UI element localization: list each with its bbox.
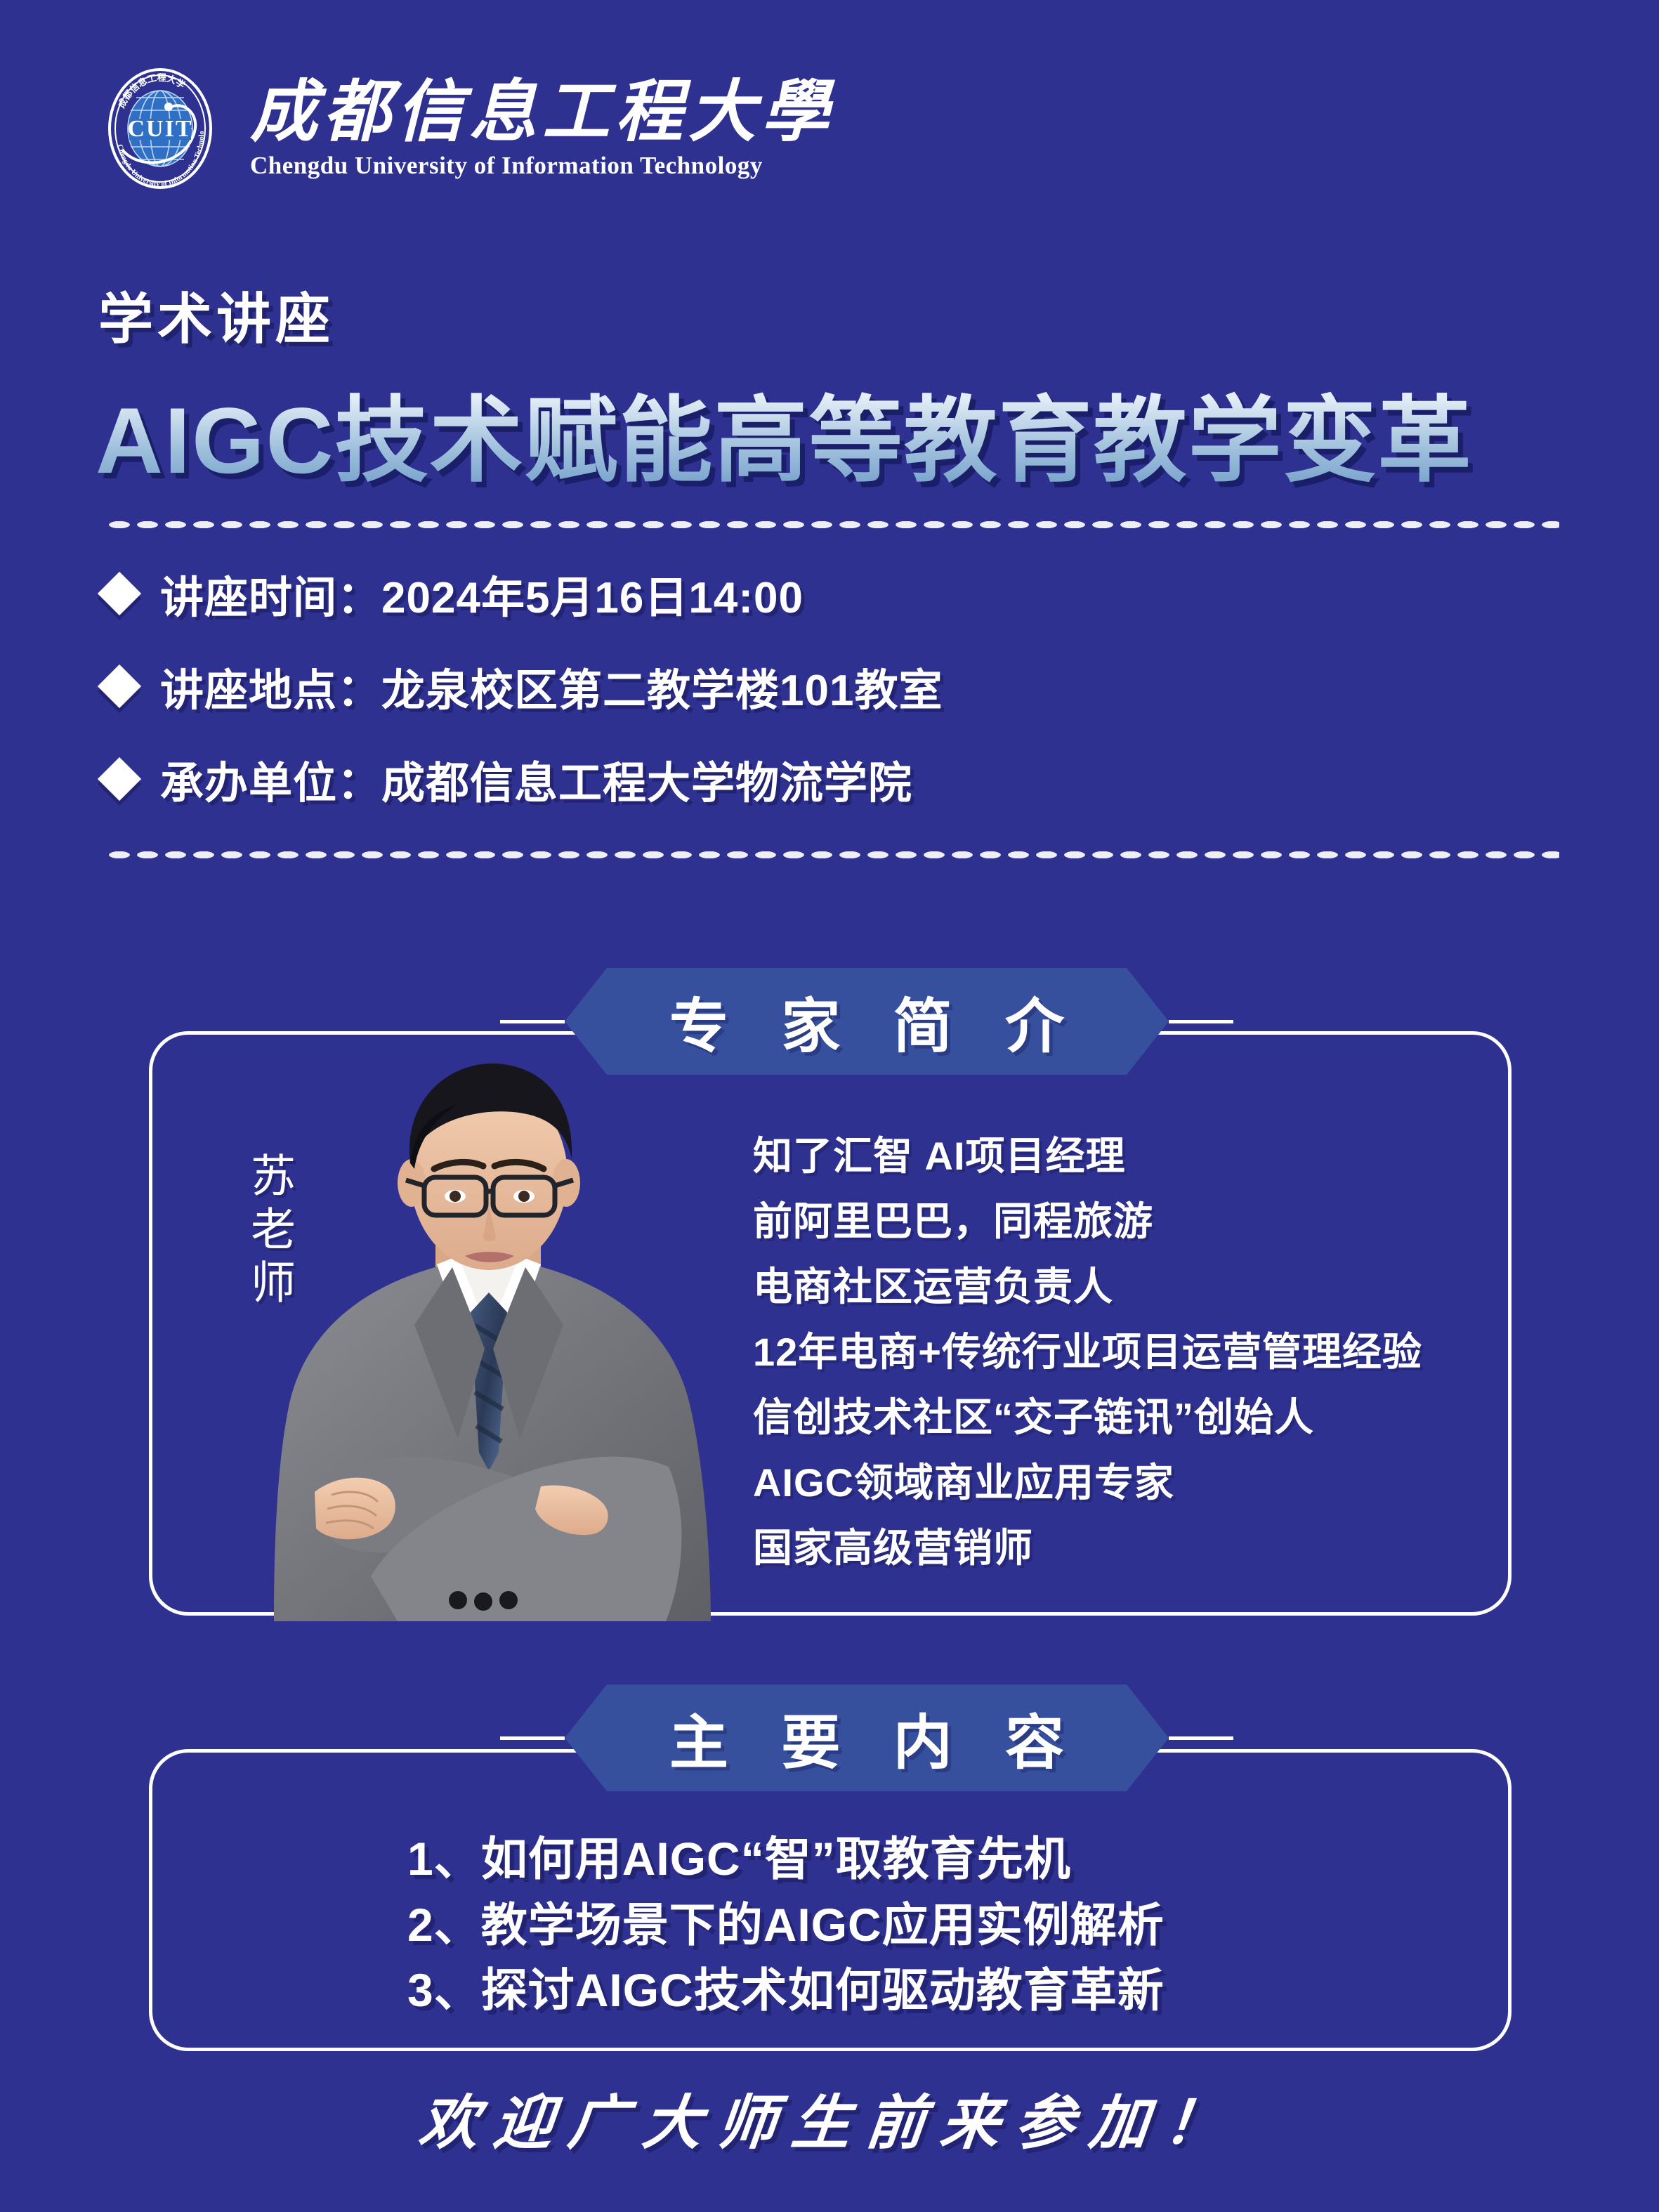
- info-value-time: 2024年5月16日14:00: [381, 562, 804, 625]
- event-info-list: 讲座时间： 2024年5月16日14:00 讲座地点： 龙泉校区第二教学楼101…: [104, 562, 1509, 840]
- banner-line-left: [500, 1736, 565, 1740]
- kicker-label: 学术讲座: [98, 275, 334, 354]
- bio-line: 信创技术社区“交子链讯”创始人: [753, 1385, 1469, 1451]
- diamond-bullet-icon: [98, 757, 141, 801]
- topic-line: 3、探讨AIGC技术如何驱动教育革新: [407, 1958, 1391, 2024]
- brand-header: CUIT 成都信息工程大学 Chengdu University of Info…: [98, 67, 834, 190]
- content-banner-shape: 主 要 内 容: [565, 1684, 1169, 1791]
- bio-line: 前阿里巴巴，同程旅游: [753, 1189, 1469, 1255]
- info-row-time: 讲座时间： 2024年5月16日14:00: [104, 562, 1509, 625]
- info-row-venue: 讲座地点： 龙泉校区第二教学楼101教室: [104, 655, 1509, 718]
- speaker-name: 苏老师: [247, 1152, 292, 1312]
- info-label-time: 讲座时间：: [160, 562, 381, 625]
- cuit-globe-logo-icon: CUIT 成都信息工程大学 Chengdu University of Info…: [98, 67, 222, 190]
- expert-bio-list: 知了汇智 AI项目经理 前阿里巴巴，同程旅游 电商社区运营负责人 12年电商+传…: [753, 1124, 1469, 1581]
- brand-name-cn: 成都信息工程大學: [250, 77, 834, 148]
- brand-name-en: Chengdu University of Information Techno…: [250, 152, 834, 180]
- expert-banner: 专 家 简 介: [500, 968, 1233, 1075]
- topic-line: 1、如何用AIGC“智”取教育先机: [407, 1826, 1391, 1892]
- speaker-portrait-icon: [247, 1045, 739, 1621]
- poster-root: CUIT 成都信息工程大学 Chengdu University of Info…: [0, 0, 1659, 2212]
- info-value-organizer: 成都信息工程大学物流学院: [381, 747, 912, 811]
- bio-line: 知了汇智 AI项目经理: [753, 1124, 1469, 1189]
- bio-line: 国家高级营销师: [753, 1516, 1469, 1581]
- diamond-bullet-icon: [98, 665, 141, 708]
- banner-line-right: [1169, 1736, 1233, 1740]
- info-value-venue: 龙泉校区第二教学楼101教室: [381, 655, 943, 718]
- divider-dotted-bottom: [105, 850, 1559, 860]
- content-topic-list: 1、如何用AIGC“智”取教育先机 2、教学场景下的AIGC应用实例解析 3、探…: [407, 1826, 1391, 2024]
- info-label-venue: 讲座地点：: [160, 655, 381, 718]
- svg-text:CUIT: CUIT: [127, 116, 192, 142]
- bio-line: 电商社区运营负责人: [753, 1255, 1469, 1320]
- topic-line: 2、教学场景下的AIGC应用实例解析: [407, 1892, 1391, 1958]
- content-banner-label: 主 要 内 容: [651, 1696, 1082, 1781]
- footer-invitation: 欢迎广大师生前来参加！: [0, 2076, 1659, 2161]
- bio-line: AIGC领域商业应用专家: [753, 1451, 1469, 1516]
- banner-line-left: [500, 1020, 565, 1023]
- info-label-organizer: 承办单位：: [160, 747, 381, 811]
- divider-dotted-top: [105, 520, 1559, 530]
- expert-banner-shape: 专 家 简 介: [565, 968, 1169, 1075]
- brand-wordmark: 成都信息工程大學 Chengdu University of Informati…: [250, 77, 834, 181]
- bio-line: 12年电商+传统行业项目运营管理经验: [753, 1320, 1469, 1385]
- content-banner: 主 要 内 容: [500, 1684, 1233, 1791]
- diamond-bullet-icon: [98, 572, 141, 615]
- expert-banner-label: 专 家 简 介: [651, 979, 1082, 1064]
- banner-line-right: [1169, 1020, 1233, 1023]
- info-row-organizer: 承办单位： 成都信息工程大学物流学院: [104, 747, 1509, 811]
- page-title: AIGC技术赋能高等教育教学变革: [96, 365, 1473, 500]
